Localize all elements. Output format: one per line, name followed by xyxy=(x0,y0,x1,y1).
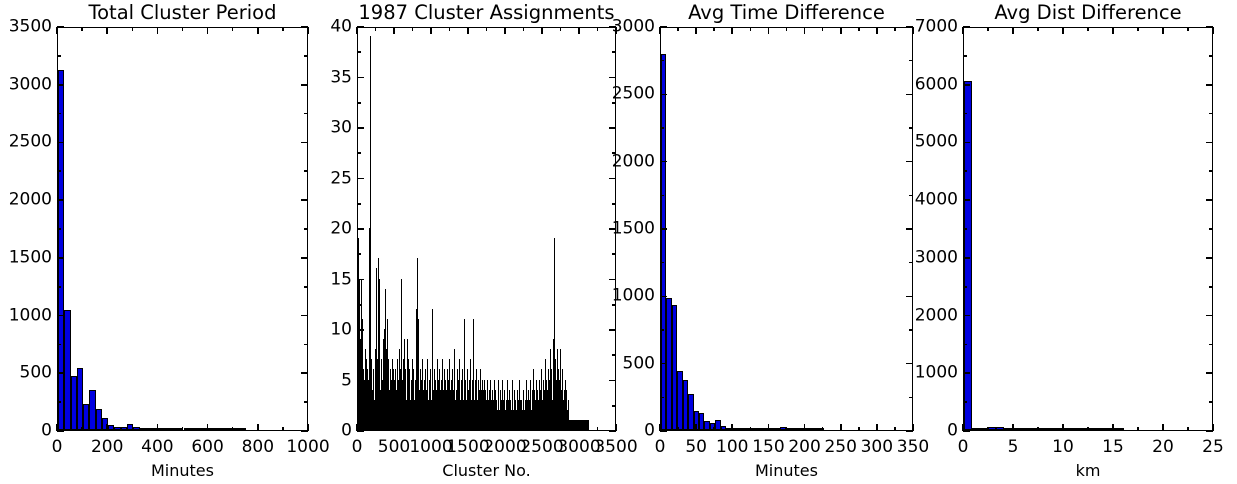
ytick-major xyxy=(963,372,970,374)
xtick-label: 5 xyxy=(1008,439,1019,456)
ytick-major xyxy=(963,84,970,86)
histogram-bar xyxy=(1116,428,1124,430)
xtick-minor xyxy=(987,427,989,431)
ytick-major-right xyxy=(1206,372,1213,374)
ytick-label: 0 xyxy=(901,423,958,440)
xtick-minor-top xyxy=(1037,27,1039,31)
ytick-label: 2000 xyxy=(901,307,958,324)
xtick-major-top xyxy=(1012,27,1014,34)
histogram-bar xyxy=(972,428,980,430)
xtick-major xyxy=(1012,424,1014,431)
ytick-label: 3000 xyxy=(901,249,958,266)
histogram-bar xyxy=(1020,428,1028,430)
figure-canvas: Total Cluster Period05001000150020002500… xyxy=(0,0,1237,484)
ytick-label: 5000 xyxy=(901,134,958,151)
histogram-bar xyxy=(1076,428,1084,430)
xtick-major-top xyxy=(1212,27,1214,34)
histogram-bar xyxy=(1004,428,1012,430)
ytick-label: 7000 xyxy=(901,19,958,36)
xtick-label: 15 xyxy=(1102,439,1124,456)
xtick-major-top xyxy=(1112,27,1114,34)
histogram-bar xyxy=(1044,428,1052,430)
ytick-minor xyxy=(963,401,967,403)
ytick-label: 1000 xyxy=(901,365,958,382)
ytick-minor xyxy=(963,344,967,346)
xtick-label: 10 xyxy=(1052,439,1074,456)
ytick-minor xyxy=(963,55,967,57)
xtick-major xyxy=(1212,424,1214,431)
ytick-minor xyxy=(963,113,967,115)
ytick-major xyxy=(963,430,970,432)
plot-area-3 xyxy=(963,27,1213,431)
histogram-bar xyxy=(1068,428,1076,430)
plot-inner-3 xyxy=(964,28,1212,430)
histogram-bar xyxy=(1028,428,1036,430)
chart-panel-3: Avg Dist Difference010002000300040005000… xyxy=(0,0,1237,484)
ytick-minor xyxy=(963,170,967,172)
ytick-minor xyxy=(963,228,967,230)
ytick-major-right xyxy=(1206,199,1213,201)
ytick-minor-right xyxy=(1209,344,1213,346)
histogram-bar xyxy=(988,427,996,430)
xtick-major xyxy=(1162,424,1164,431)
xtick-minor xyxy=(1037,427,1039,431)
histogram-bar xyxy=(1052,428,1060,430)
ytick-major xyxy=(963,257,970,259)
ytick-major xyxy=(963,199,970,201)
xtick-label: 25 xyxy=(1202,439,1224,456)
histogram-bar xyxy=(964,81,972,430)
ytick-minor-right xyxy=(1209,113,1213,115)
ytick-major xyxy=(963,142,970,144)
ytick-label: 6000 xyxy=(901,76,958,93)
xtick-major xyxy=(1112,424,1114,431)
ytick-major xyxy=(963,26,970,28)
xtick-major-top xyxy=(1162,27,1164,34)
ytick-minor-right xyxy=(1209,55,1213,57)
xtick-major-top xyxy=(1062,27,1064,34)
ytick-major-right xyxy=(1206,315,1213,317)
histogram-bar xyxy=(1092,428,1100,430)
xtick-label: 0 xyxy=(958,439,969,456)
ytick-minor xyxy=(963,286,967,288)
xtick-minor-top xyxy=(1087,27,1089,31)
ytick-minor-right xyxy=(1209,228,1213,230)
histogram-bar xyxy=(996,427,1004,430)
xaxis-label-3: km xyxy=(963,463,1213,479)
xtick-minor xyxy=(1187,427,1189,431)
xtick-label: 20 xyxy=(1152,439,1174,456)
panel-title-3: Avg Dist Difference xyxy=(963,3,1213,23)
ytick-minor-right xyxy=(1209,170,1213,172)
ytick-major-right xyxy=(1206,257,1213,259)
xtick-minor xyxy=(1137,427,1139,431)
xtick-major xyxy=(962,424,964,431)
histogram-bar xyxy=(1060,428,1068,430)
histogram-bar xyxy=(1100,428,1108,430)
ytick-major xyxy=(963,315,970,317)
xtick-major-top xyxy=(962,27,964,34)
xtick-minor-top xyxy=(1137,27,1139,31)
ytick-major-right xyxy=(1206,142,1213,144)
ytick-major-right xyxy=(1206,84,1213,86)
ytick-minor-right xyxy=(1209,286,1213,288)
ytick-label: 4000 xyxy=(901,192,958,209)
xtick-minor-top xyxy=(1187,27,1189,31)
xtick-minor xyxy=(1087,427,1089,431)
xtick-major xyxy=(1062,424,1064,431)
xtick-minor-top xyxy=(987,27,989,31)
ytick-minor-right xyxy=(1209,401,1213,403)
